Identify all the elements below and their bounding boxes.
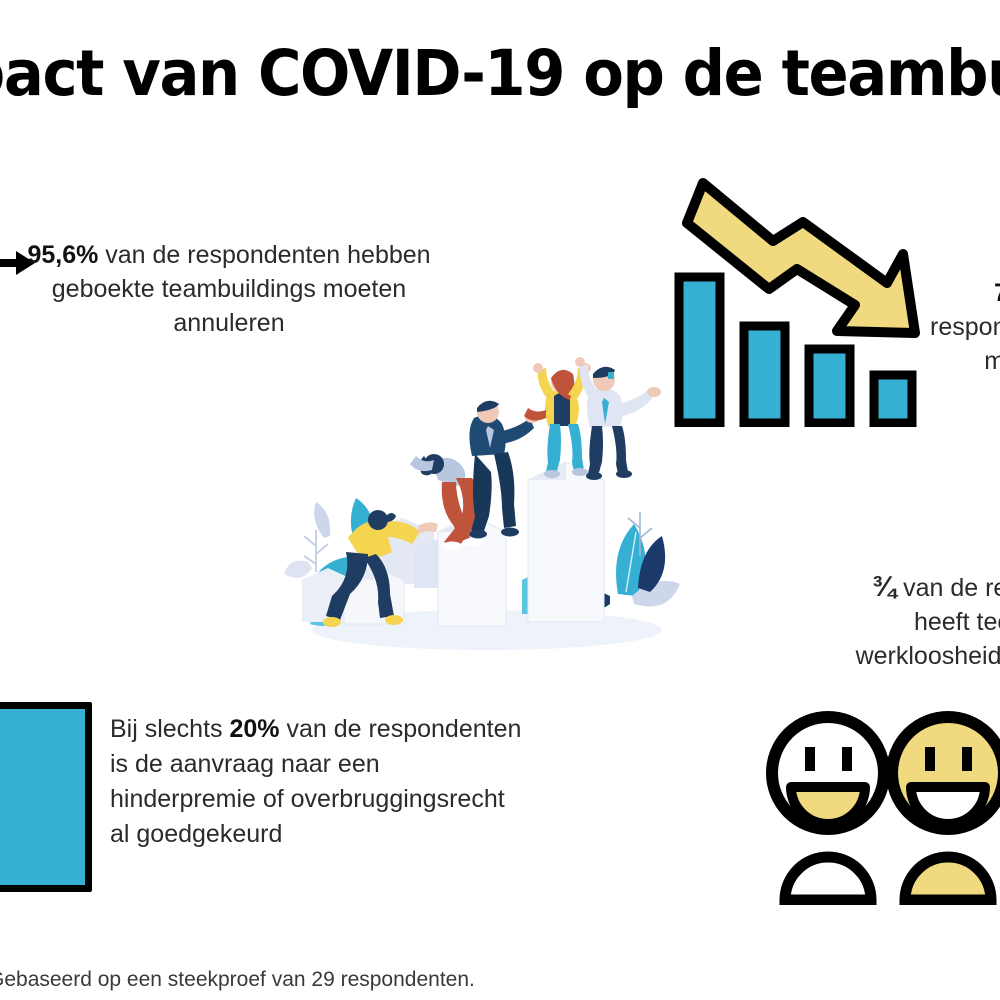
stat-cancelled-teambuildings: 95,6% van de respondenten hebben geboekt… xyxy=(0,238,464,340)
stat-three-quarter-value: ¾ xyxy=(872,571,896,603)
teamwork-podium-illustration xyxy=(282,342,682,662)
declining-bar-chart-icon xyxy=(665,165,920,427)
stat-premie-value: 20% xyxy=(229,715,279,743)
smiley-person-white-icon xyxy=(772,717,884,900)
person-man-celebrating xyxy=(575,357,661,480)
stat-revenue-text: van de respondenten verwacht minder omze… xyxy=(930,279,1000,375)
teal-rectangle-swatch xyxy=(0,702,92,892)
stat-cancelled-value: 95,6% xyxy=(27,241,98,269)
stat-expected-revenue-drop: 76% van de respondenten verwacht minder … xyxy=(930,276,1000,378)
stat-premie-prefix: Bij slechts xyxy=(110,715,229,743)
two-smiley-person-icons xyxy=(765,695,1000,905)
stat-hinderpremie-approved: Bij slechts 20% van de respondenten is d… xyxy=(110,712,530,852)
stat-cancelled-text: van de respondenten hebben geboekte team… xyxy=(52,241,431,337)
smiley-person-yellow-icon xyxy=(892,717,1000,900)
page-title: Impact van COVID-19 op de teambuildingse… xyxy=(0,34,1000,114)
page-title-container: Impact van COVID-19 op de teambuildingse… xyxy=(0,34,1000,114)
stat-technical-unemployment: ¾ van de respondenten heeft technische w… xyxy=(855,570,1000,673)
stat-revenue-value: 76% xyxy=(994,279,1000,307)
infographic-canvas: Impact van COVID-19 op de teambuildingse… xyxy=(0,0,1000,1000)
footer-note: Gebaseerd op een steekproef van 29 respo… xyxy=(0,968,475,992)
